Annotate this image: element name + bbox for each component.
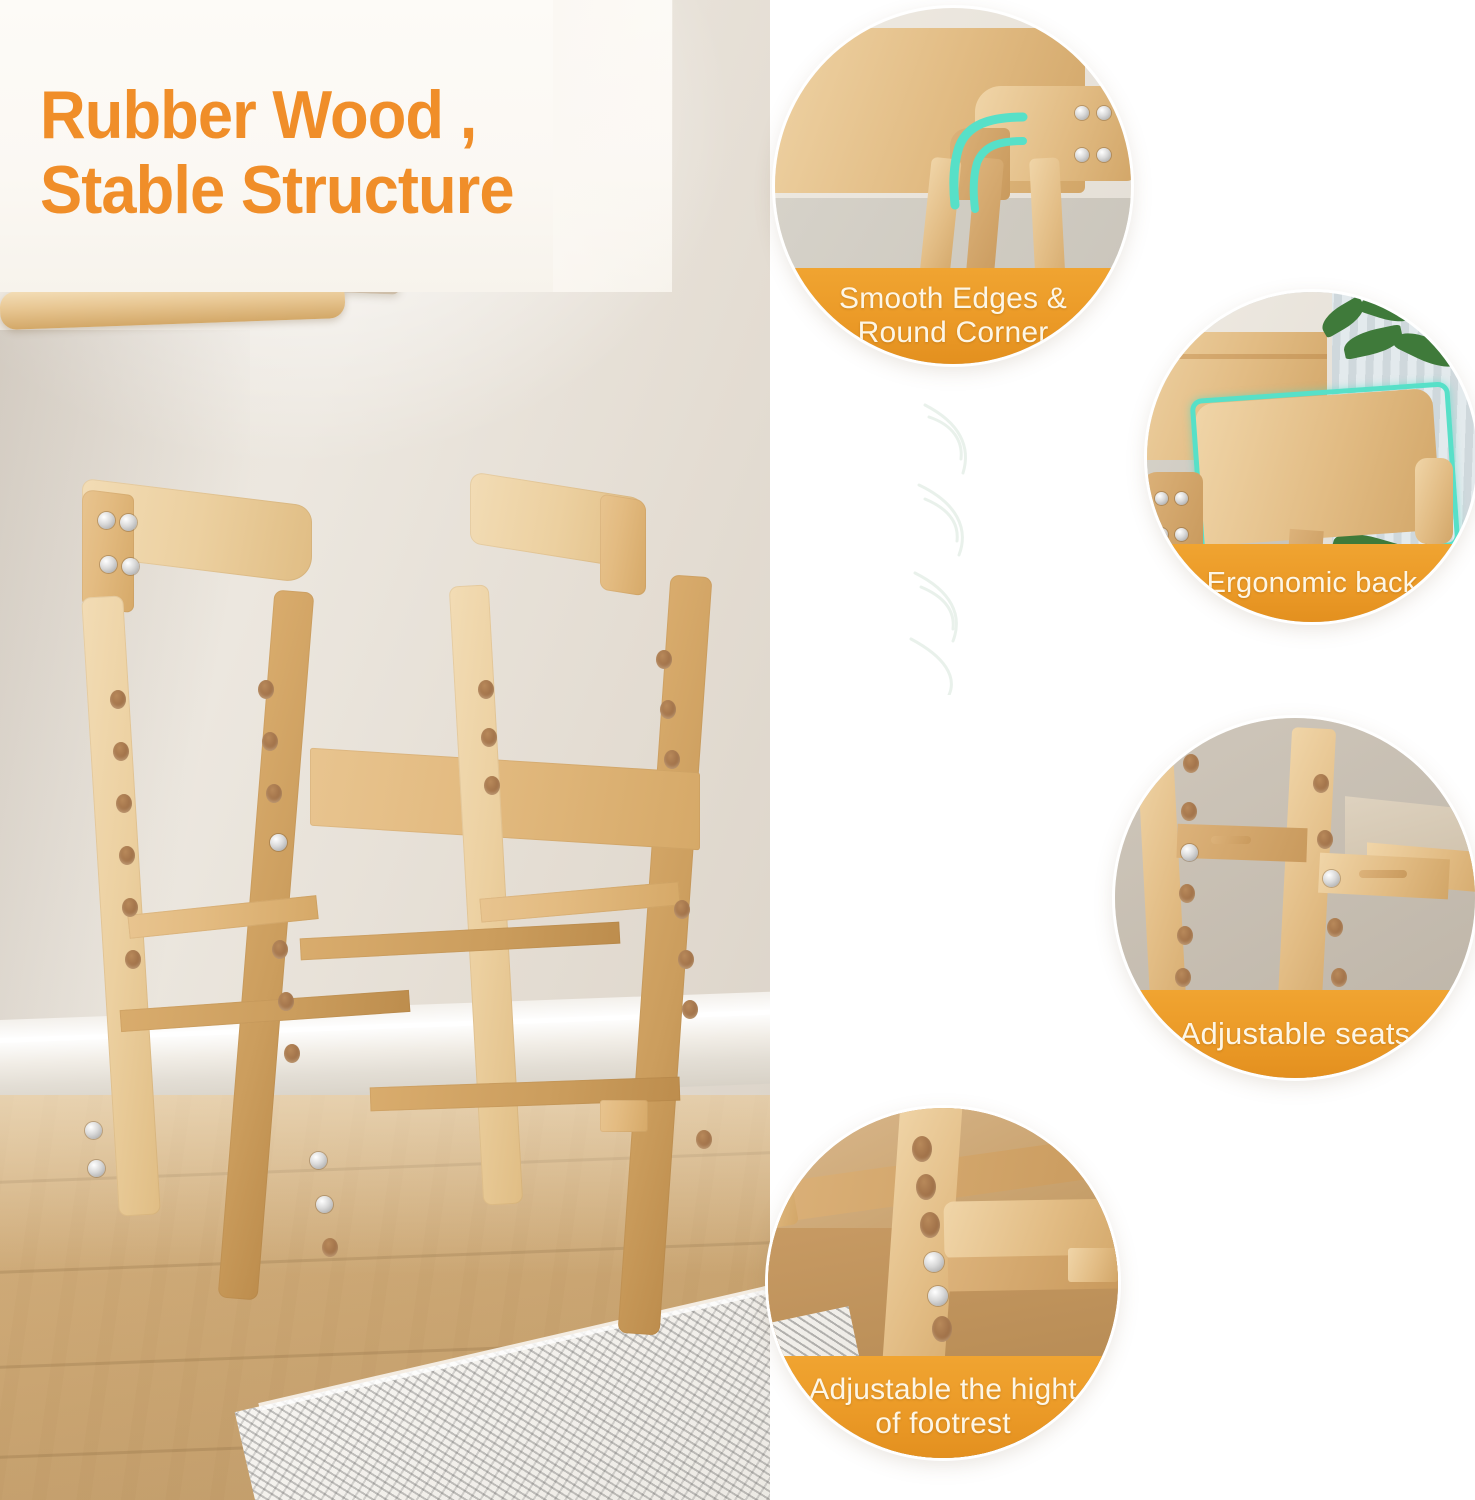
callout-label-band: Ergonomic back — [1147, 544, 1475, 622]
chair-brace-left — [127, 895, 318, 939]
armrest-screw — [100, 556, 117, 573]
leg-adjustment-hole — [696, 1130, 712, 1149]
armrest-screw — [122, 558, 139, 575]
callout-label: Adjustable seats — [1180, 1017, 1411, 1052]
product-feature-image: Rubber Wood ,Stable Structure Smooth Edg… — [0, 0, 1475, 1500]
callout-adjustable-footrest[interactable]: Adjustable the hightof footrest — [768, 1108, 1118, 1458]
leg-adjustment-hole — [678, 950, 694, 969]
callout-label-band: Adjustable seats — [1115, 990, 1475, 1078]
leg-adjustment-hole — [284, 1044, 300, 1063]
leg-screw — [270, 834, 287, 851]
chair-back-brace — [300, 922, 621, 961]
leg-adjustment-hole — [272, 940, 288, 959]
leg-adjustment-hole — [122, 898, 138, 917]
chair-seat-frame — [310, 748, 700, 851]
leg-adjustment-hole — [262, 732, 278, 751]
leg-screw — [316, 1196, 333, 1213]
leg-adjustment-hole — [478, 680, 494, 699]
page-title: Rubber Wood ,Stable Structure — [40, 78, 635, 228]
leg-adjustment-hole — [119, 846, 135, 865]
leg-adjustment-hole — [660, 700, 676, 719]
leg-adjustment-hole — [258, 680, 274, 699]
callout-adjustable-seats[interactable]: Adjustable seats — [1115, 718, 1475, 1078]
leg-adjustment-hole — [116, 794, 132, 813]
callout-label: Adjustable the hightof footrest — [809, 1373, 1077, 1440]
headline-line-1: Rubber Wood , — [40, 77, 476, 153]
headline-line-2: Stable Structure — [40, 152, 514, 228]
armrest-screw — [120, 514, 137, 531]
leg-adjustment-hole — [110, 690, 126, 709]
leg-adjustment-hole — [113, 742, 129, 761]
chair-armrest-left-post — [82, 489, 134, 613]
callout-label-band: Adjustable the hightof footrest — [768, 1356, 1118, 1458]
leg-adjustment-hole — [682, 1000, 698, 1019]
callout-label: Smooth Edges &Round Corner — [839, 282, 1067, 349]
leg-adjustment-hole — [278, 992, 294, 1011]
armrest-screw — [98, 512, 115, 529]
leg-adjustment-hole — [125, 950, 141, 969]
leg-adjustment-hole — [322, 1238, 338, 1257]
callout-label: Ergonomic back — [1207, 567, 1418, 599]
chair-armrest-right-post — [600, 493, 646, 596]
leg-adjustment-hole — [664, 750, 680, 769]
callout-label-band: Smooth Edges &Round Corner — [775, 268, 1131, 364]
leg-adjustment-hole — [481, 728, 497, 747]
leg-adjustment-hole — [266, 784, 282, 803]
leg-adjustment-hole — [484, 776, 500, 795]
leaf-watermark-icon — [905, 395, 1015, 695]
leg-adjustment-hole — [674, 900, 690, 919]
callout-ergonomic-back[interactable]: Ergonomic back — [1147, 292, 1475, 622]
chair-leg-back-right — [618, 574, 713, 1335]
leg-screw — [310, 1152, 327, 1169]
leg-screw — [85, 1122, 102, 1139]
chair-footrest-tab — [600, 1100, 648, 1132]
leg-adjustment-hole — [656, 650, 672, 669]
callout-smooth-edges[interactable]: Smooth Edges &Round Corner — [775, 8, 1131, 364]
leg-screw — [88, 1160, 105, 1177]
